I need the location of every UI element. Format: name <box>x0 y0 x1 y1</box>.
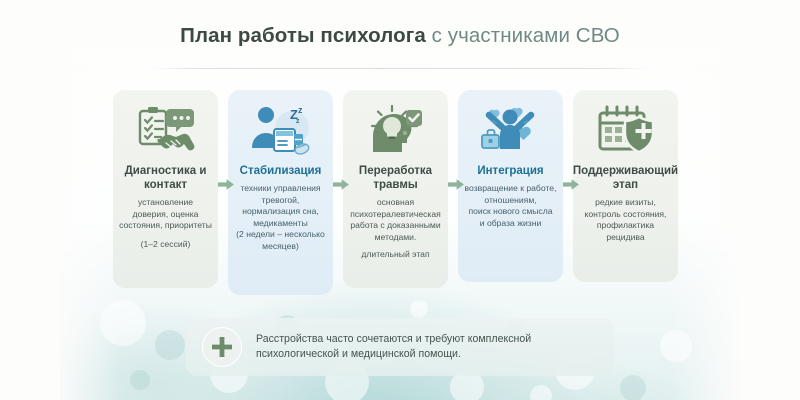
bokeh-dot <box>530 385 552 400</box>
arrow-stage-4-to-5 <box>563 178 579 191</box>
body-line: нормализация сна, <box>236 206 325 218</box>
stage-card-body: основная психотералевтическая работа с д… <box>348 197 443 261</box>
title-line: травмы <box>373 179 417 191</box>
stage-card-title: Поддерживающий этап <box>573 164 678 192</box>
stage-card-diagnostika[interactable]: Диагностика и контакт установление довер… <box>113 90 218 288</box>
medical-cross-icon <box>202 327 242 367</box>
footer-note-banner: Расстройства часто сочетаются и требуют … <box>186 318 614 376</box>
bokeh-dot <box>620 375 646 400</box>
body-line: доверия, оценка <box>119 209 212 221</box>
title-line: Стабилизация <box>240 165 322 177</box>
clipboard-checklist-handshake-icon <box>136 100 196 162</box>
bokeh-dot <box>155 330 185 360</box>
stage-card-stabilizaciya[interactable]: Z z z Стабилизация техники управления тр… <box>228 90 333 295</box>
title-line: Переработка <box>359 165 432 177</box>
page-header: План работы психолога с участниками СВО <box>0 24 800 48</box>
stage-card-integraciya[interactable]: Интеграция возвращение к работе, отношен… <box>458 90 563 282</box>
title-line: Диагностика <box>125 165 197 177</box>
stage-card-podderzhivayushchiy-etap[interactable]: Поддерживающий этап редкие визиты, контр… <box>573 90 678 282</box>
page-title: План работы психолога с участниками СВО <box>0 24 800 48</box>
stage-card-body: возвращение к работе, отношениям, поиск … <box>463 183 559 229</box>
infographic-canvas: План работы психолога с участниками СВО <box>0 0 800 400</box>
body-line: тревогой, <box>236 195 325 207</box>
stage-card-body: техники управления тревогой, нормализаци… <box>234 183 327 253</box>
body-line: и образа жизни <box>465 218 557 230</box>
body-line: поиск нового смысла <box>465 206 557 218</box>
body-line: возвращение к работе, <box>465 183 557 195</box>
body-line: контроль состояния, <box>585 209 667 221</box>
page-title-light: с участниками СВО <box>432 24 620 47</box>
body-line: месяцев) <box>236 241 325 253</box>
stage-card-title: Интеграция <box>477 164 543 178</box>
stage-card-body: установление доверия, оценка состояния, … <box>117 197 214 250</box>
title-line: этап <box>613 179 638 191</box>
body-line: медикаменты <box>236 218 325 230</box>
footer-note-line: психологической и медицинской помощи. <box>256 347 531 363</box>
body-line: методами. <box>350 232 441 244</box>
body-line: (2 недели – несколько <box>236 229 325 241</box>
stage-card-pererabotka-travmy[interactable]: Переработка травмы основная психотералев… <box>343 90 448 288</box>
arrow-stage-3-to-4 <box>448 178 464 191</box>
body-line: установление <box>119 197 212 209</box>
svg-text:z: z <box>296 118 300 125</box>
stage-card-body: редкие визиты, контроль состояния, профи… <box>583 197 669 243</box>
stage-cards: Диагностика и контакт установление довер… <box>0 90 800 295</box>
footer-note-text: Расстройства часто сочетаются и требуют … <box>256 332 531 363</box>
svg-text:z: z <box>298 105 303 115</box>
body-line: основная <box>350 197 441 209</box>
body-line: техники управления <box>236 183 325 195</box>
body-line: работа с доказанными <box>350 220 441 232</box>
stage-card-title: Диагностика и контакт <box>118 164 213 192</box>
stage-card-title: Переработка травмы <box>348 164 443 192</box>
person-sleep-medication-icon: Z z z <box>250 100 312 162</box>
bokeh-dot <box>130 370 150 390</box>
body-line: длительный этап <box>350 249 441 261</box>
arrow-stage-1-to-2 <box>218 178 234 191</box>
calendar-shield-cross-icon <box>595 100 657 162</box>
body-line: (1–2 сессий) <box>119 239 212 251</box>
footer-note-line: Расстройства часто сочетаются и требуют … <box>256 332 531 348</box>
body-line: психотералевтическая <box>350 209 441 221</box>
body-line: рецидива <box>585 232 667 244</box>
person-arms-up-hearts-briefcase-icon <box>480 100 542 162</box>
title-line: Поддерживающий <box>573 165 678 177</box>
page-title-bold: План работы психолога <box>180 24 426 47</box>
header-divider <box>150 68 650 69</box>
title-line: Интеграция <box>477 165 543 177</box>
bokeh-dot <box>410 300 428 318</box>
head-lightbulb-check-icon <box>365 100 427 162</box>
stage-card-title: Стабилизация <box>240 164 322 178</box>
body-line: редкие визиты, <box>585 197 667 209</box>
body-line: отношениям, <box>465 195 557 207</box>
body-line: профилактика <box>585 220 667 232</box>
arrow-stage-2-to-3 <box>333 178 349 191</box>
body-line: состояния, приоритеты <box>119 220 212 232</box>
